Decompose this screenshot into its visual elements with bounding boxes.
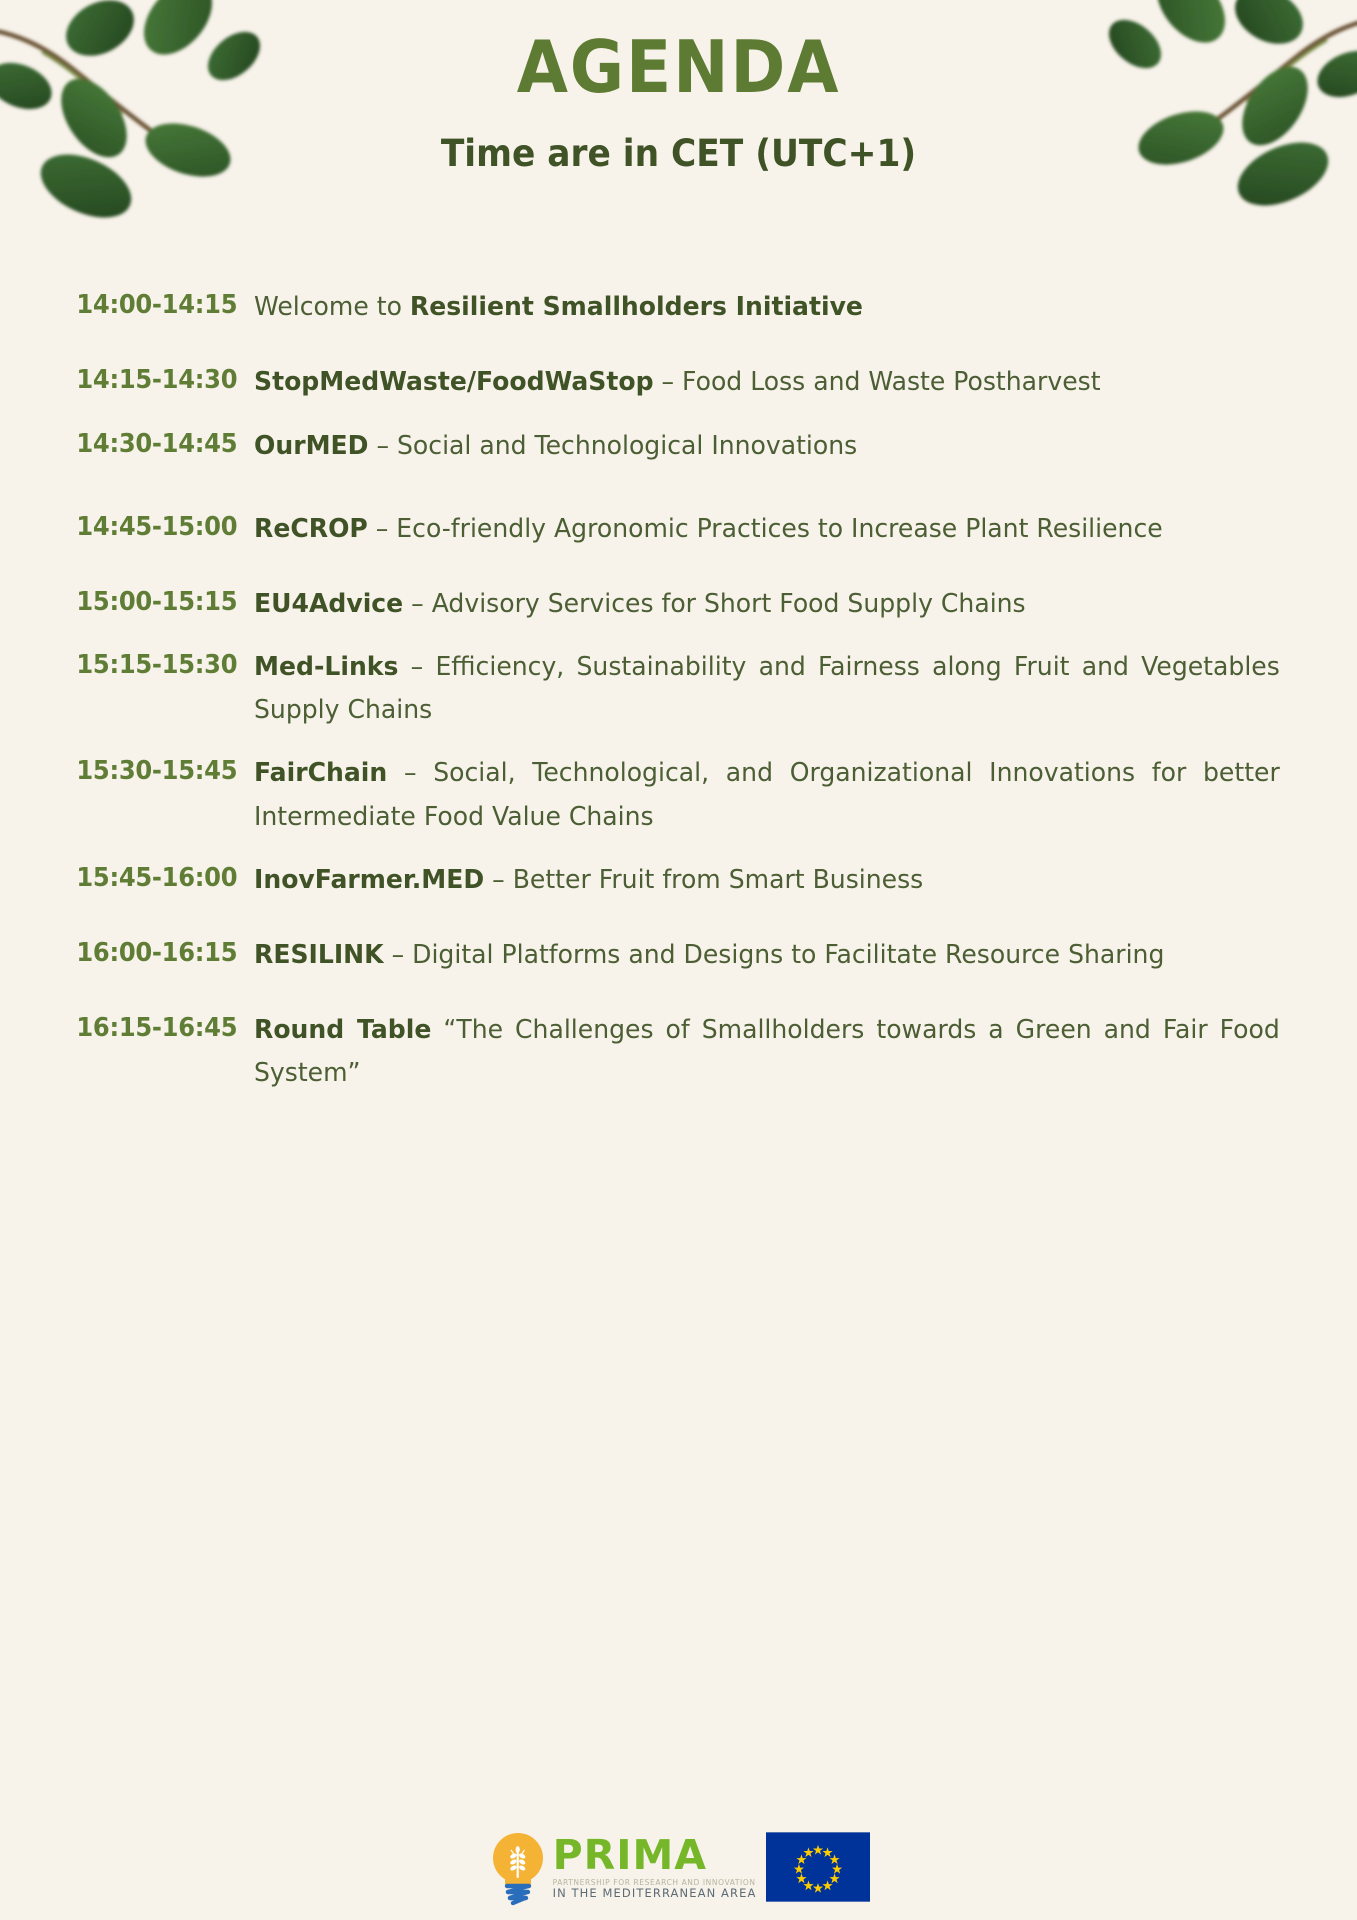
agenda-desc-rest: – Social, Technological, and Organizatio…: [254, 758, 1280, 831]
agenda-desc-rest: – Digital Platforms and Designs to Facil…: [384, 940, 1165, 970]
european-union-flag-icon: [766, 1831, 870, 1903]
document-header: AGENDA Time are in CET (UTC+1): [0, 0, 1357, 174]
agenda-row: 15:15-15:30 Med-Links – Efficiency, Sust…: [22, 646, 1335, 732]
agenda-description: Welcome to Resilient Smallholders Initia…: [254, 286, 1297, 329]
agenda-list: 14:00-14:15 Welcome to Resilient Smallho…: [0, 286, 1357, 1095]
agenda-desc-bold: InovFarmer.MED: [254, 865, 484, 895]
agenda-row: 15:00-15:15 EU4Advice – Advisory Service…: [22, 583, 1335, 626]
agenda-desc-bold: RESILINK: [254, 940, 384, 970]
agenda-desc-bold: ReCROP: [254, 514, 368, 544]
agenda-desc-bold: EU4Advice: [254, 589, 403, 619]
agenda-time: 15:30-15:45: [38, 752, 254, 791]
prima-wordmark: PRIMA: [553, 1835, 757, 1876]
prima-tagline-top: PARTNERSHIP FOR RESEARCH AND INNOVATION: [553, 1879, 757, 1887]
agenda-desc-prefix: Welcome to: [254, 292, 410, 322]
agenda-time: 14:45-15:00: [38, 508, 254, 547]
agenda-description: OurMED – Social and Technological Innova…: [254, 425, 1297, 468]
agenda-row: 14:30-14:45 OurMED – Social and Technolo…: [22, 425, 1335, 468]
agenda-time: 14:00-14:15: [38, 286, 254, 325]
page-title: AGENDA: [54, 30, 1302, 106]
agenda-row: 14:15-14:30 StopMedWaste/FoodWaStop – Fo…: [22, 361, 1335, 404]
prima-wordmark-block: PRIMA PARTNERSHIP FOR RESEARCH AND INNOV…: [553, 1835, 757, 1900]
agenda-description: EU4Advice – Advisory Services for Short …: [254, 583, 1297, 626]
agenda-desc-bold: OurMED: [254, 431, 369, 461]
agenda-desc-rest: – Food Loss and Waste Postharvest: [654, 367, 1101, 397]
agenda-desc-bold: Med-Links: [254, 652, 398, 682]
prima-logo: PRIMA PARTNERSHIP FOR RESEARCH AND INNOV…: [487, 1828, 757, 1906]
agenda-time: 15:00-15:15: [38, 583, 254, 622]
agenda-time: 14:15-14:30: [38, 361, 254, 400]
agenda-row: 15:45-16:00 InovFarmer.MED – Better Frui…: [22, 859, 1335, 902]
agenda-row: 16:00-16:15 RESILINK – Digital Platforms…: [22, 934, 1335, 977]
agenda-time: 16:15-16:45: [38, 1009, 254, 1048]
agenda-row: 14:45-15:00 ReCROP – Eco-friendly Agrono…: [22, 508, 1335, 551]
agenda-description: StopMedWaste/FoodWaStop – Food Loss and …: [254, 361, 1297, 404]
agenda-desc-rest: – Eco-friendly Agronomic Practices to In…: [368, 514, 1163, 544]
footer-logos: PRIMA PARTNERSHIP FOR RESEARCH AND INNOV…: [0, 1828, 1357, 1906]
agenda-description: FairChain – Social, Technological, and O…: [254, 752, 1297, 838]
agenda-desc-rest: – Efficiency, Sustainability and Fairnes…: [254, 652, 1280, 725]
agenda-time: 15:15-15:30: [38, 646, 254, 685]
agenda-row: 16:15-16:45 Round Table “The Challenges …: [22, 1009, 1335, 1095]
agenda-desc-rest: – Better Fruit from Smart Business: [484, 865, 923, 895]
agenda-row: 14:00-14:15 Welcome to Resilient Smallho…: [22, 286, 1335, 329]
agenda-desc-bold: Round Table: [254, 1015, 431, 1045]
prima-tagline-bottom: IN THE MEDITERRANEAN AREA: [553, 1888, 757, 1900]
timezone-subtitle: Time are in CET (UTC+1): [47, 134, 1309, 175]
agenda-description: RESILINK – Digital Platforms and Designs…: [254, 934, 1297, 977]
agenda-description: ReCROP – Eco-friendly Agronomic Practice…: [254, 508, 1297, 551]
agenda-desc-rest: – Social and Technological Innovations: [369, 431, 858, 461]
agenda-description: Round Table “The Challenges of Smallhold…: [254, 1009, 1297, 1095]
agenda-desc-bold: Resilient Smallholders Initiative: [410, 292, 863, 322]
lightbulb-wheat-icon: [487, 1828, 549, 1906]
agenda-desc-rest: – Advisory Services for Short Food Suppl…: [403, 589, 1025, 619]
agenda-desc-bold: StopMedWaste/FoodWaStop: [254, 367, 654, 397]
agenda-row: 15:30-15:45 FairChain – Social, Technolo…: [22, 752, 1335, 838]
agenda-time: 15:45-16:00: [38, 859, 254, 898]
agenda-time: 16:00-16:15: [38, 934, 254, 973]
agenda-time: 14:30-14:45: [38, 425, 254, 464]
agenda-desc-bold: FairChain: [254, 758, 387, 788]
agenda-description: Med-Links – Efficiency, Sustainability a…: [254, 646, 1297, 732]
agenda-description: InovFarmer.MED – Better Fruit from Smart…: [254, 859, 1297, 902]
